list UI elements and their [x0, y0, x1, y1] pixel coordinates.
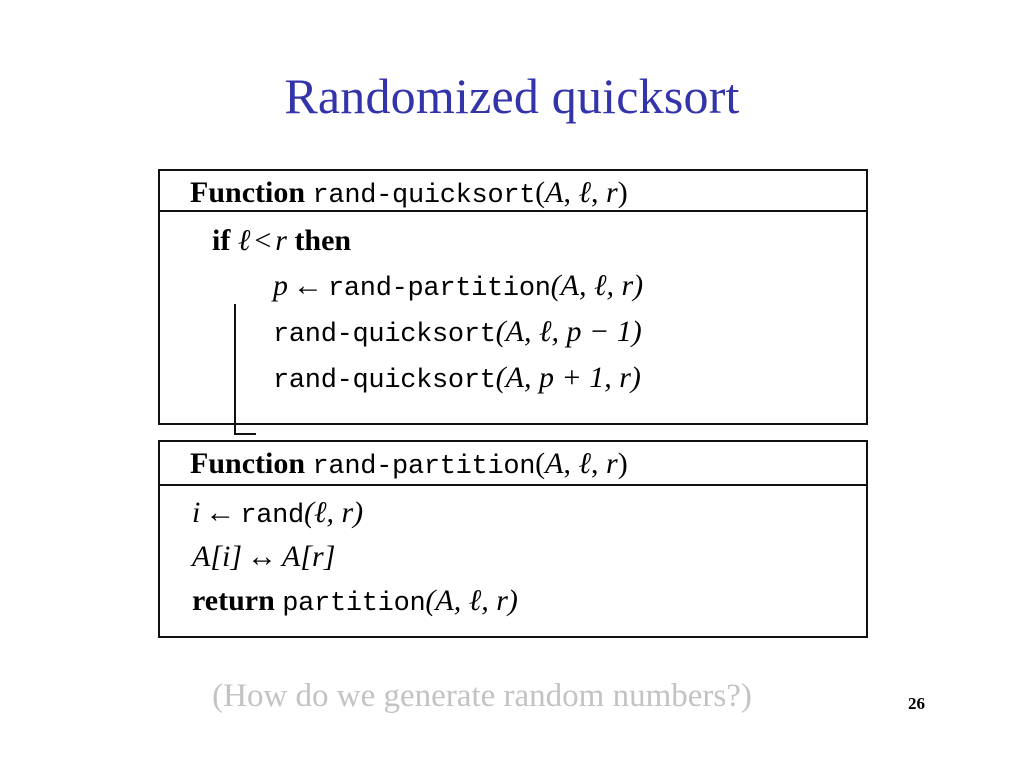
call-rand-partition-args: (A, ℓ, r)	[551, 269, 643, 302]
assign-arrow-icon: ←	[200, 496, 240, 529]
call-partition: partition	[282, 589, 425, 619]
close-paren: )	[618, 176, 628, 209]
if-keyword: if	[212, 224, 230, 257]
footer-question-note: (How do we generate random numbers?)	[0, 678, 1024, 715]
swap-right-element: A[r]	[282, 540, 335, 573]
page-number: 26	[908, 694, 925, 714]
call-rand-partition: rand-partition	[328, 274, 551, 304]
algorithm-box-rand-partition: Function rand-partition(A, ℓ, r) i←rand(…	[158, 440, 868, 638]
then-keyword: then	[294, 224, 351, 257]
param-right: r	[606, 447, 618, 480]
algorithm-header-rand-quicksort: Function rand-quicksort(A, ℓ, r)	[160, 171, 866, 212]
function-name-rand-quicksort: rand-quicksort	[313, 181, 536, 211]
param-comma-1: ,	[564, 176, 572, 209]
call-rand-args: (ℓ, r)	[304, 496, 363, 529]
block-indent-rule	[234, 304, 256, 435]
algorithm-line-recursive-right: rand-quicksort(A, p + 1, r)	[273, 361, 641, 400]
algorithm-header-rand-partition: Function rand-partition(A, ℓ, r)	[160, 442, 866, 486]
if-left-operand: ℓ	[238, 224, 251, 257]
open-paren: (	[535, 447, 545, 480]
function-keyword: Function	[190, 176, 305, 209]
algorithm-box-rand-quicksort: Function rand-quicksort(A, ℓ, r) if ℓ<r …	[158, 169, 868, 425]
param-array: A	[545, 176, 563, 209]
close-paren: )	[618, 447, 628, 480]
slide-canvas: Randomized quicksort Function rand-quick…	[0, 0, 1024, 768]
algorithm-line-assign-p: p←rand-partition(A, ℓ, r)	[273, 269, 643, 308]
algorithm-line-return: return partition(A, ℓ, r)	[192, 584, 518, 623]
call-rand-quicksort-right-args: (A, p + 1, r)	[496, 361, 641, 394]
function-name-rand-partition: rand-partition	[313, 452, 536, 482]
swap-left-element: A[i]	[192, 540, 242, 573]
param-array: A	[545, 447, 563, 480]
less-than-operator: <	[250, 224, 275, 257]
algorithm-line-recursive-left: rand-quicksort(A, ℓ, p − 1)	[273, 315, 642, 354]
call-rand: rand	[240, 501, 304, 531]
param-right: r	[606, 176, 618, 209]
param-comma-2: ,	[591, 176, 599, 209]
variable-p: p	[273, 269, 288, 302]
algorithm-line-assign-i: i←rand(ℓ, r)	[192, 496, 363, 535]
param-comma-1: ,	[564, 447, 572, 480]
call-partition-args: (A, ℓ, r)	[425, 584, 517, 617]
param-comma-2: ,	[591, 447, 599, 480]
function-keyword: Function	[190, 447, 305, 480]
open-paren: (	[535, 176, 545, 209]
call-rand-quicksort-left: rand-quicksort	[273, 320, 496, 350]
page-title: Randomized quicksort	[0, 67, 1024, 125]
algorithm-line-swap: A[i]↔A[r]	[192, 540, 335, 579]
return-keyword: return	[192, 584, 275, 617]
call-rand-quicksort-right: rand-quicksort	[273, 366, 496, 396]
param-left: ℓ	[579, 176, 592, 209]
assign-arrow-icon: ←	[288, 269, 328, 302]
call-rand-quicksort-left-args: (A, ℓ, p − 1)	[496, 315, 642, 348]
if-right-operand: r	[275, 224, 287, 257]
algorithm-line-if: if ℓ<r then	[212, 224, 351, 263]
param-left: ℓ	[579, 447, 592, 480]
swap-arrow-icon: ↔	[242, 540, 282, 573]
